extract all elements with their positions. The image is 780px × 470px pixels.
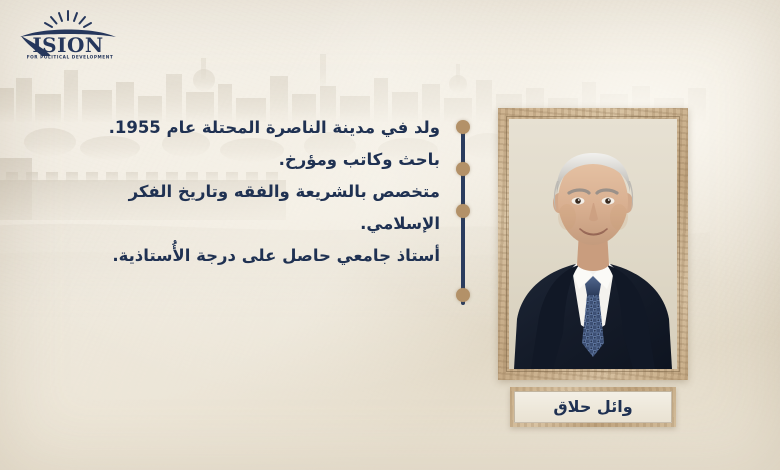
bio-line: ولد في مدينة الناصرة المحتلة عام 1955. [60, 112, 440, 144]
bio-line: باحث وكاتب ومؤرخ. [60, 144, 440, 176]
name-plate: وائل حلاق [510, 387, 676, 427]
svg-text:FOR POLITICAL DEVELOPMENT: FOR POLITICAL DEVELOPMENT [27, 55, 114, 61]
portrait-frame [498, 108, 688, 380]
svg-text:ISION: ISION [32, 33, 103, 57]
timeline-dot [456, 288, 470, 302]
timeline-dot [456, 162, 470, 176]
profile-card: ISION FOR POLITICAL DEVELOPMENT ولد في م… [0, 0, 780, 470]
bio-line: متخصص بالشريعة والفقه وتاريخ الفكر [60, 176, 440, 208]
bio-line: الإسلامي. [60, 208, 440, 240]
bio-text-block: ولد في مدينة الناصرة المحتلة عام 1955. ب… [60, 112, 440, 272]
name-plate-inner: وائل حلاق [514, 391, 672, 423]
person-name: وائل حلاق [553, 399, 632, 415]
vision-logo[interactable]: ISION FOR POLITICAL DEVELOPMENT [16, 8, 120, 64]
timeline-dot [456, 120, 470, 134]
timeline-dot [456, 204, 470, 218]
bio-line: أستاذ جامعي حاصل على درجة الأُستاذية. [60, 240, 440, 272]
timeline-rail [456, 120, 470, 305]
portrait-photo [509, 119, 677, 369]
